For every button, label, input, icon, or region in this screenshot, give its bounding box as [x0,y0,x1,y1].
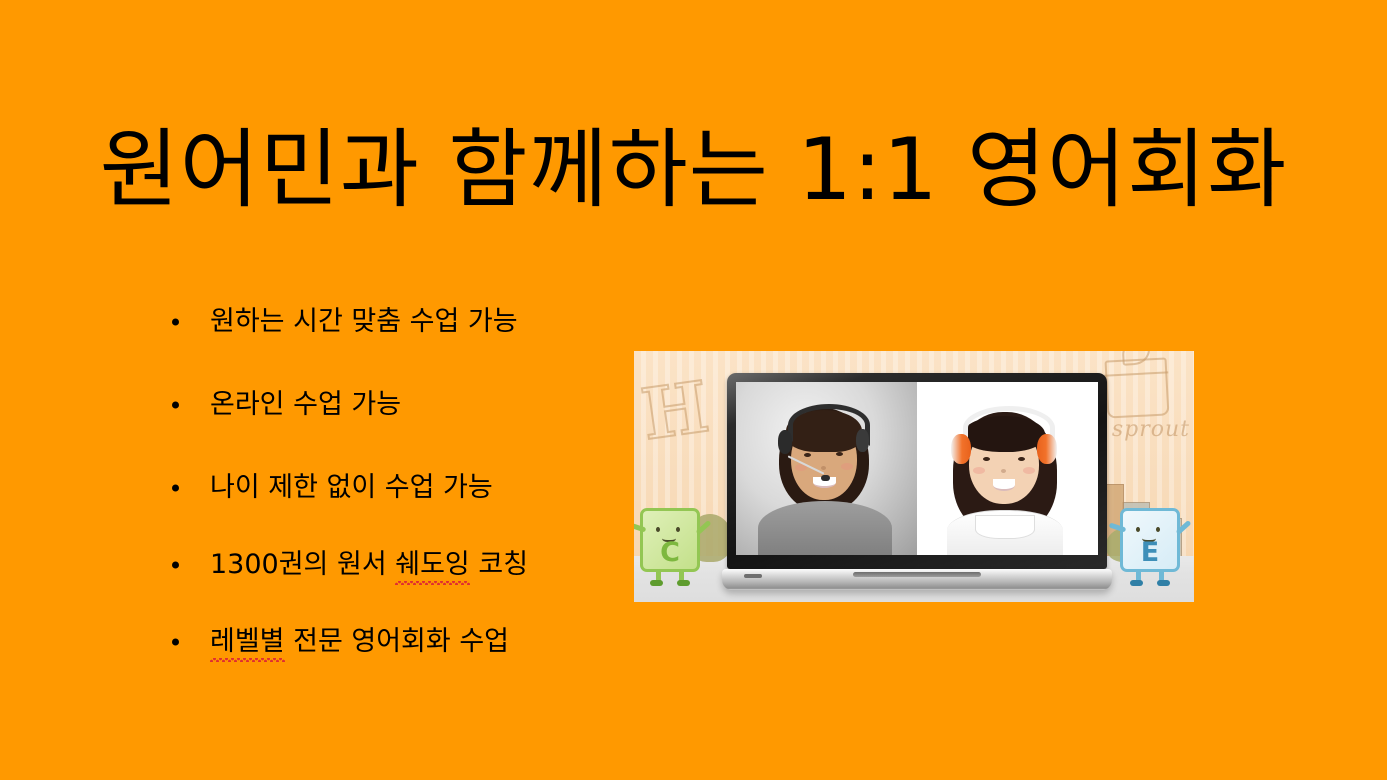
laptop-base [722,569,1112,590]
mascot-foot [1157,580,1170,586]
mascot-letter: C [643,537,697,568]
student-eye [983,457,990,461]
mascot-eye [1156,527,1160,532]
lesson-photo: H sprout C [634,351,1194,602]
mascot-eye [656,527,660,532]
bullet-dot-icon [172,638,179,645]
student-cheek [973,467,985,474]
book-mascot-c-icon: C [640,508,700,572]
laptop-screen [736,382,1098,555]
mascot-eye [1136,527,1140,532]
list-item-label: 레벨별 전문 영어회화 수업 [210,626,509,657]
teacher-headset-cup-icon [778,430,792,454]
student-cheek [1023,467,1035,474]
teacher-nose [821,466,826,470]
spellcheck-flagged-word: 쉐도잉 [395,549,470,580]
list-item-label: 온라인 수업 가능 [210,389,401,420]
mascot-letter: E [1123,537,1177,568]
bullet-dot-icon [172,484,179,491]
bullet-dot-icon [172,401,179,408]
mascot-face: C [643,511,697,569]
list-item-text-suffix: 코칭 [470,549,528,580]
laptop-graphic [722,373,1112,590]
list-item: 온라인 수업 가능 [166,389,636,420]
mascot-eye [676,527,680,532]
feature-bullet-list: 원하는 시간 맞춤 수업 가능 온라인 수업 가능 나이 제한 없이 수업 가능… [166,306,636,657]
student-nose [1001,469,1006,473]
laptop-lid-notch [853,572,981,577]
teacher-eye [836,452,843,456]
student-headphone-cup-icon [1037,434,1057,464]
student-headphone-cup-icon [951,434,971,464]
mascot-face: E [1123,511,1177,569]
laptop-port-icon [744,574,762,578]
teacher-eye [804,453,811,457]
list-item-text-prefix: 1300권의 원서 [210,549,395,580]
video-tile-student [917,382,1098,555]
book-mascot-e-icon: E [1120,508,1180,572]
teacher-cheek [841,463,853,470]
student-collar [975,515,1035,539]
list-item-text-suffix: 전문 영어회화 수업 [285,626,509,657]
student-mouth [993,479,1015,491]
mascot-foot [677,580,690,586]
laptop-lid [727,373,1107,569]
mascot-foot [1130,580,1143,586]
video-tile-teacher [736,382,917,555]
page-title: 원어민과 함께하는 1:1 영어회화 [0,124,1387,217]
teacher-torso [758,501,892,555]
bullet-dot-icon [172,318,179,325]
list-item: 레벨별 전문 영어회화 수업 [166,626,636,657]
list-item: 원하는 시간 맞춤 수업 가능 [166,306,636,337]
list-item: 나이 제한 없이 수업 가능 [166,472,636,503]
student-eye [1018,457,1025,461]
student-figure [917,382,1098,555]
list-item: 1300권의 원서 쉐도잉 코칭 [166,549,636,580]
list-item-label: 나이 제한 없이 수업 가능 [210,472,493,503]
mascot-foot [650,580,663,586]
teacher-figure [736,382,917,555]
list-item-label: 1300권의 원서 쉐도잉 코칭 [210,549,528,580]
teacher-headset-cup-icon [856,429,869,452]
spellcheck-flagged-word: 레벨별 [210,626,285,657]
slide-canvas: 원어민과 함께하는 1:1 영어회화 원하는 시간 맞춤 수업 가능 온라인 수… [0,0,1387,780]
teacher-headset-mic-tip-icon [821,475,830,481]
list-item-label: 원하는 시간 맞춤 수업 가능 [210,306,518,337]
bullet-dot-icon [172,561,179,568]
